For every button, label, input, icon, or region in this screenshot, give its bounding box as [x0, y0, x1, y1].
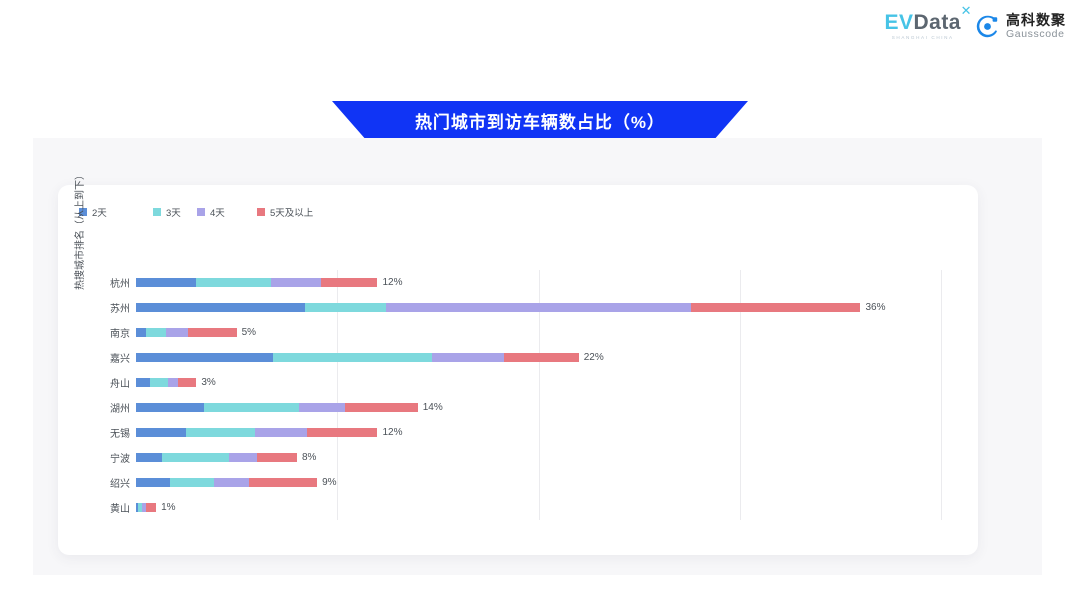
chart-row[interactable]: 南京5% [58, 320, 978, 345]
bar-segment-2天[interactable] [136, 478, 170, 487]
bar-segment-4天[interactable] [214, 478, 248, 487]
bar-segment-2天[interactable] [136, 328, 146, 337]
bar-value-label: 8% [302, 452, 316, 463]
stacked-bar[interactable] [136, 328, 237, 337]
stacked-bar[interactable] [136, 428, 377, 437]
bar-value-label: 22% [584, 352, 604, 363]
bar-segment-3天[interactable] [204, 403, 299, 412]
bar-segment-2天[interactable] [136, 303, 305, 312]
bar-segment-4天[interactable] [432, 353, 504, 362]
bar-segment-4天[interactable] [166, 328, 188, 337]
page-title: 热门城市到访车辆数占比（%） [415, 108, 665, 133]
bar-segment-5天及以上[interactable] [345, 403, 417, 412]
bar-value-label: 3% [201, 377, 215, 388]
bar-segment-3天[interactable] [150, 378, 168, 387]
bar-segment-5天及以上[interactable] [178, 378, 196, 387]
chart-bars: 杭州12%苏州36%南京5%嘉兴22%舟山3%湖州14%无锡12%宁波8%绍兴9… [58, 270, 978, 520]
bar-segment-3天[interactable] [146, 328, 166, 337]
bar-segment-3天[interactable] [273, 353, 432, 362]
chart-row[interactable]: 杭州12% [58, 270, 978, 295]
bar-segment-4天[interactable] [168, 378, 178, 387]
y-axis-tick-label: 绍兴 [58, 475, 136, 490]
chart-row[interactable]: 宁波8% [58, 445, 978, 470]
evdata-wordmark: EVData✕ [884, 12, 961, 33]
bar-segment-3天[interactable] [196, 278, 270, 287]
title-banner-shape: 热门城市到访车辆数占比（%） [332, 101, 748, 139]
bar-value-label: 9% [322, 477, 336, 488]
bar-segment-3天[interactable] [186, 428, 254, 437]
stacked-bar[interactable] [136, 503, 156, 512]
stacked-bar[interactable] [136, 353, 579, 362]
y-axis-tick-label: 无锡 [58, 425, 136, 440]
stacked-bar[interactable] [136, 378, 196, 387]
bar-segment-2天[interactable] [136, 403, 204, 412]
bar-segment-5天及以上[interactable] [249, 478, 317, 487]
y-axis-tick-label: 嘉兴 [58, 350, 136, 365]
bar-segment-3天[interactable] [162, 453, 228, 462]
stacked-bar[interactable] [136, 453, 297, 462]
y-axis-tick-label: 南京 [58, 325, 136, 340]
bar-segment-4天[interactable] [386, 303, 692, 312]
bar-value-label: 1% [161, 502, 175, 513]
bar-value-label: 12% [382, 427, 402, 438]
evdata-prefix: EV [884, 11, 913, 34]
y-axis-tick-label: 舟山 [58, 375, 136, 390]
chart-row[interactable]: 舟山3% [58, 370, 978, 395]
chart-row[interactable]: 绍兴9% [58, 470, 978, 495]
bar-value-label: 12% [382, 277, 402, 288]
gausscode-name-en: Gausscode [1006, 29, 1066, 41]
brand-header: EVData✕ SHANGHAI CHINA 高科数聚 Gausscode [884, 12, 1066, 41]
bar-segment-2天[interactable] [136, 453, 162, 462]
stacked-bar[interactable] [136, 278, 377, 287]
y-axis-tick-label: 黄山 [58, 500, 136, 515]
title-banner: 热门城市到访车辆数占比（%） [332, 101, 748, 139]
y-axis-tick-label: 苏州 [58, 300, 136, 315]
stacked-bar[interactable] [136, 303, 860, 312]
bar-segment-4天[interactable] [255, 428, 307, 437]
y-axis-tick-label: 湖州 [58, 400, 136, 415]
chart-plot-area: 热搜城市排名（从上到下） 杭州12%苏州36%南京5%嘉兴22%舟山3%湖州14… [58, 185, 978, 555]
gausscode-logo: 高科数聚 Gausscode [975, 12, 1066, 40]
y-axis-tick-label: 杭州 [58, 275, 136, 290]
bar-value-label: 36% [865, 302, 885, 313]
bar-segment-5天及以上[interactable] [188, 328, 236, 337]
bar-segment-4天[interactable] [299, 403, 345, 412]
y-axis-tick-label: 宁波 [58, 450, 136, 465]
chart-row[interactable]: 苏州36% [58, 295, 978, 320]
bar-segment-2天[interactable] [136, 428, 186, 437]
gausscode-text: 高科数聚 Gausscode [1006, 12, 1066, 40]
evdata-suffix: Data [913, 11, 961, 34]
bar-segment-5天及以上[interactable] [321, 278, 377, 287]
bar-segment-2天[interactable] [136, 278, 196, 287]
chart-row[interactable]: 黄山1% [58, 495, 978, 520]
bar-segment-5天及以上[interactable] [307, 428, 377, 437]
bar-segment-5天及以上[interactable] [257, 453, 297, 462]
bar-segment-5天及以上[interactable] [504, 353, 578, 362]
bar-value-label: 5% [242, 327, 256, 338]
bar-segment-4天[interactable] [229, 453, 257, 462]
bar-segment-2天[interactable] [136, 353, 273, 362]
bar-segment-2天[interactable] [136, 378, 150, 387]
evdata-logo: EVData✕ SHANGHAI CHINA [884, 12, 961, 41]
bar-value-label: 14% [423, 402, 443, 413]
chart-row[interactable]: 湖州14% [58, 395, 978, 420]
evdata-x-icon: ✕ [961, 4, 972, 17]
chart-card: 2天3天4天5天及以上 热搜城市排名（从上到下） 杭州12%苏州36%南京5%嘉… [58, 185, 978, 555]
bar-segment-5天及以上[interactable] [146, 503, 156, 512]
bar-segment-4天[interactable] [271, 278, 321, 287]
chart-row[interactable]: 无锡12% [58, 420, 978, 445]
bar-segment-3天[interactable] [305, 303, 386, 312]
chart-row[interactable]: 嘉兴22% [58, 345, 978, 370]
evdata-tagline: SHANGHAI CHINA [892, 36, 954, 41]
bar-segment-3天[interactable] [170, 478, 214, 487]
bar-segment-5天及以上[interactable] [691, 303, 860, 312]
stacked-bar[interactable] [136, 403, 418, 412]
gausscode-logo-icon [975, 14, 1000, 39]
stacked-bar[interactable] [136, 478, 317, 487]
gausscode-name-cn: 高科数聚 [1006, 12, 1066, 28]
